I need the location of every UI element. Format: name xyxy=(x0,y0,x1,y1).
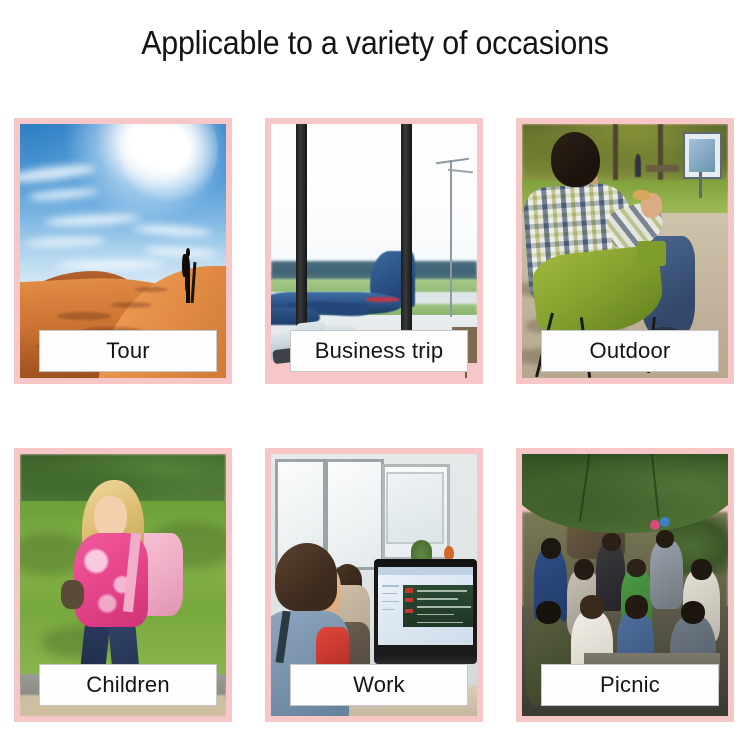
sand-ripple xyxy=(111,302,152,308)
window-pane xyxy=(386,472,444,544)
person-head xyxy=(681,601,706,625)
screen-text-line xyxy=(382,593,396,595)
worker-hair xyxy=(275,543,337,611)
child-face xyxy=(94,496,127,538)
screen-toolbar xyxy=(378,567,473,575)
occasion-card-tour[interactable]: Tour xyxy=(14,118,232,384)
card-label-work: Work xyxy=(290,664,468,706)
occasion-card-children[interactable]: Children xyxy=(14,448,232,722)
person-head xyxy=(602,533,621,551)
sand-ripple xyxy=(57,312,111,320)
card-label-picnic: Picnic xyxy=(541,664,719,706)
person-head xyxy=(574,559,595,580)
noticeboard-poster xyxy=(689,139,716,172)
distant-person xyxy=(635,154,641,177)
screen-text-line xyxy=(417,590,466,592)
card-label-outdoor: Outdoor xyxy=(541,330,719,372)
park-noticeboard xyxy=(683,132,722,179)
person-head xyxy=(580,595,605,619)
occasion-card-work[interactable]: Work xyxy=(265,448,483,722)
green-canopy-tarp xyxy=(522,454,728,533)
light-pole xyxy=(450,160,452,317)
page-title: Applicable to a variety of occasions xyxy=(30,24,720,62)
card-label-text: Work xyxy=(353,672,405,698)
screen-text-line xyxy=(382,601,398,603)
person xyxy=(650,540,683,608)
screen-highlight xyxy=(405,609,413,613)
card-label-text: Outdoor xyxy=(590,338,671,364)
screen-text-line xyxy=(417,622,462,624)
screen-text-line xyxy=(417,598,458,600)
person-head xyxy=(536,601,561,625)
promo-banner: Applicable to a variety of occasions xyxy=(0,0,750,750)
occasions-grid: Tour xyxy=(14,118,736,722)
camp-chair-pocket xyxy=(637,241,666,266)
airplane-stripe xyxy=(366,297,399,302)
card-label-text: Business trip xyxy=(315,338,444,364)
office-window xyxy=(325,459,385,570)
sand-ripple xyxy=(135,287,168,293)
snack xyxy=(633,190,649,200)
screen-text-line xyxy=(417,606,471,608)
hiker-silhouette xyxy=(181,246,195,302)
screen-text-line xyxy=(382,609,394,611)
balloon xyxy=(650,520,660,530)
screen-text-line xyxy=(382,585,398,587)
park-bench xyxy=(646,165,679,173)
hiker-body xyxy=(185,256,190,291)
window-mullion xyxy=(401,124,412,348)
card-label-text: Children xyxy=(86,672,170,698)
card-label-business-trip: Business trip xyxy=(290,330,468,372)
tree-trunk xyxy=(613,124,618,185)
person-head xyxy=(625,595,648,619)
occasion-card-outdoor[interactable]: Outdoor xyxy=(516,118,734,384)
screen-text-line xyxy=(417,614,454,616)
child-glove xyxy=(61,580,84,609)
card-label-text: Picnic xyxy=(600,672,660,698)
noticeboard-post xyxy=(699,172,702,197)
person-head xyxy=(627,559,646,577)
screen-highlight xyxy=(405,598,413,602)
occasion-card-picnic[interactable]: Picnic xyxy=(516,448,734,722)
screen-highlight xyxy=(405,588,413,593)
person-head xyxy=(551,132,600,188)
person-head xyxy=(691,559,712,580)
card-label-tour: Tour xyxy=(39,330,217,372)
card-label-children: Children xyxy=(39,664,217,706)
occasion-card-business-trip[interactable]: Business trip xyxy=(265,118,483,384)
card-label-text: Tour xyxy=(106,338,150,364)
person-head xyxy=(541,538,562,559)
